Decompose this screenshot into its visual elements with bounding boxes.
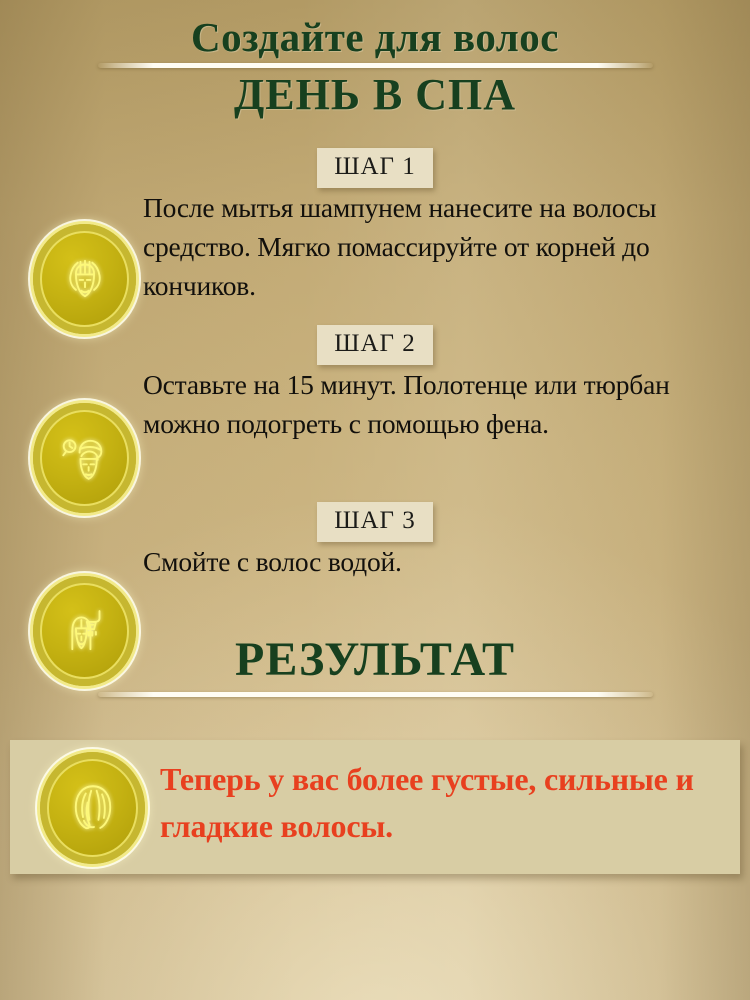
result-heading-block: РЕЗУЛЬТАТ	[0, 632, 750, 697]
result-banner: Теперь у вас более густые, сильные и гла…	[10, 740, 740, 874]
towel-turban-timer-icon	[33, 403, 136, 513]
step-3-text: Смойте с волос водой.	[143, 542, 730, 581]
poster-title-line-1: Создайте для волос	[0, 14, 750, 60]
head-massage-icon	[33, 224, 136, 334]
result-divider-rule	[98, 692, 653, 697]
step-1: ШАГ 1 После мытья шампунем нане	[0, 148, 750, 305]
step-3-body: Смойте с волос водой.	[0, 542, 750, 638]
step-2-body: Оставьте на 15 минут. Полотенце или тюрб…	[0, 365, 750, 461]
result-heading-text: РЕЗУЛЬТАТ	[0, 632, 750, 688]
step-3: ШАГ 3	[0, 502, 750, 638]
step-2-badge-wrap: ШАГ 2	[0, 325, 750, 365]
poster-title-block: Создайте для волос ДЕНЬ В СПА	[0, 14, 750, 120]
step-3-badge: ШАГ 3	[317, 502, 432, 542]
flowing-hair-icon	[40, 752, 145, 864]
step-1-badge: ШАГ 1	[317, 148, 432, 188]
title-divider-rule	[98, 63, 653, 68]
step-1-badge-wrap: ШАГ 1	[0, 148, 750, 188]
step-3-badge-wrap: ШАГ 3	[0, 502, 750, 542]
poster-title-line-2: ДЕНЬ В СПА	[0, 70, 750, 120]
step-1-body: После мытья шампунем нанесите на волосы …	[0, 188, 750, 305]
step-2: ШАГ 2 Оставьте на 15 минут. Пол	[0, 325, 750, 461]
step-2-badge: ШАГ 2	[317, 325, 432, 365]
step-2-text: Оставьте на 15 минут. Полотенце или тюрб…	[143, 365, 730, 443]
step-1-text: После мытья шампунем нанесите на волосы …	[143, 188, 730, 305]
result-text: Теперь у вас более густые, сильные и гла…	[160, 756, 726, 850]
spa-day-hair-poster: Создайте для волос ДЕНЬ В СПА ШАГ 1	[0, 0, 750, 1000]
